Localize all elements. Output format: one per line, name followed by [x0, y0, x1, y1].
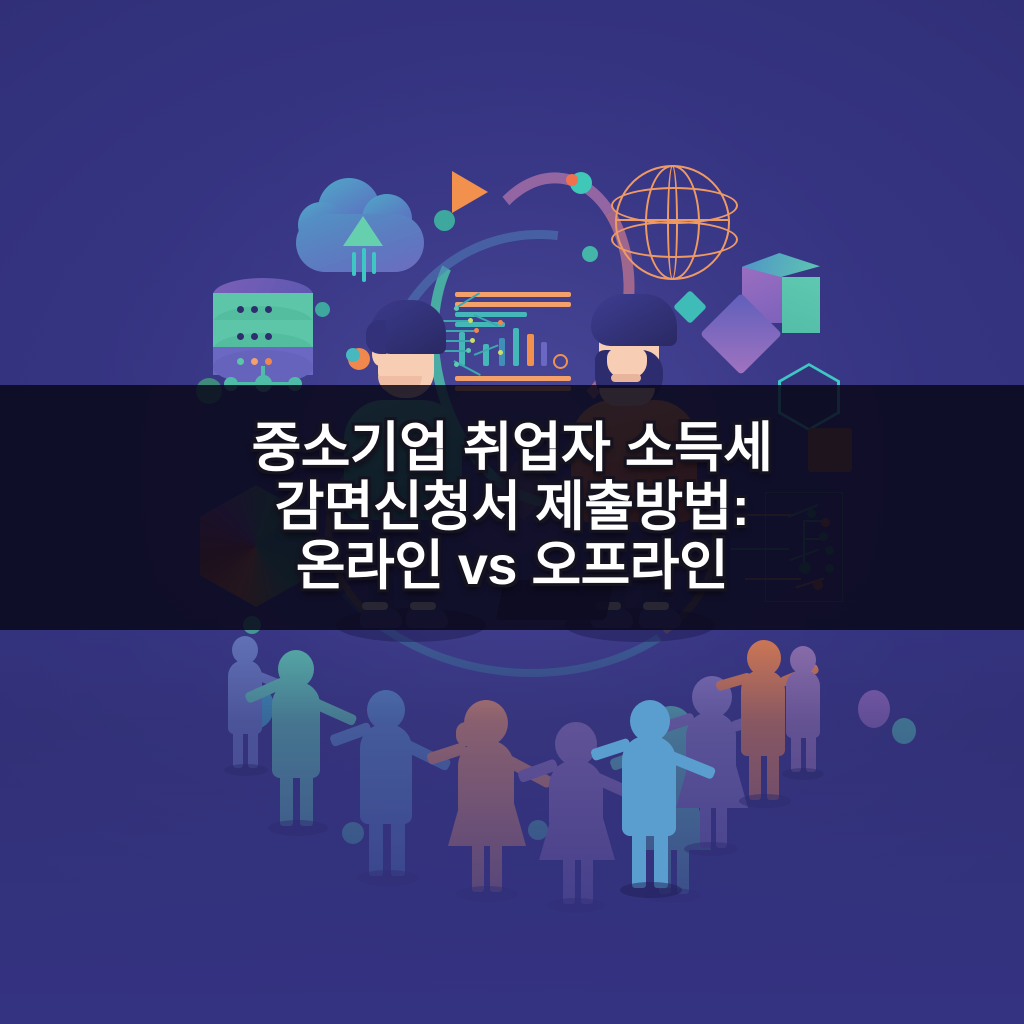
- thumbnail-canvas: 중소기업 취업자 소득세 감면신청서 제출방법: 온라인 vs 오프라인: [0, 0, 1024, 1024]
- title-line-3: 온라인 vs 오프라인: [296, 538, 728, 595]
- title-line-2: 감면신청서 제출방법:: [275, 479, 750, 536]
- title-line-1: 중소기업 취업자 소득세: [252, 420, 773, 477]
- ground-gradient: [0, 594, 1024, 1024]
- title-block: 중소기업 취업자 소득세 감면신청서 제출방법: 온라인 vs 오프라인: [0, 385, 1024, 630]
